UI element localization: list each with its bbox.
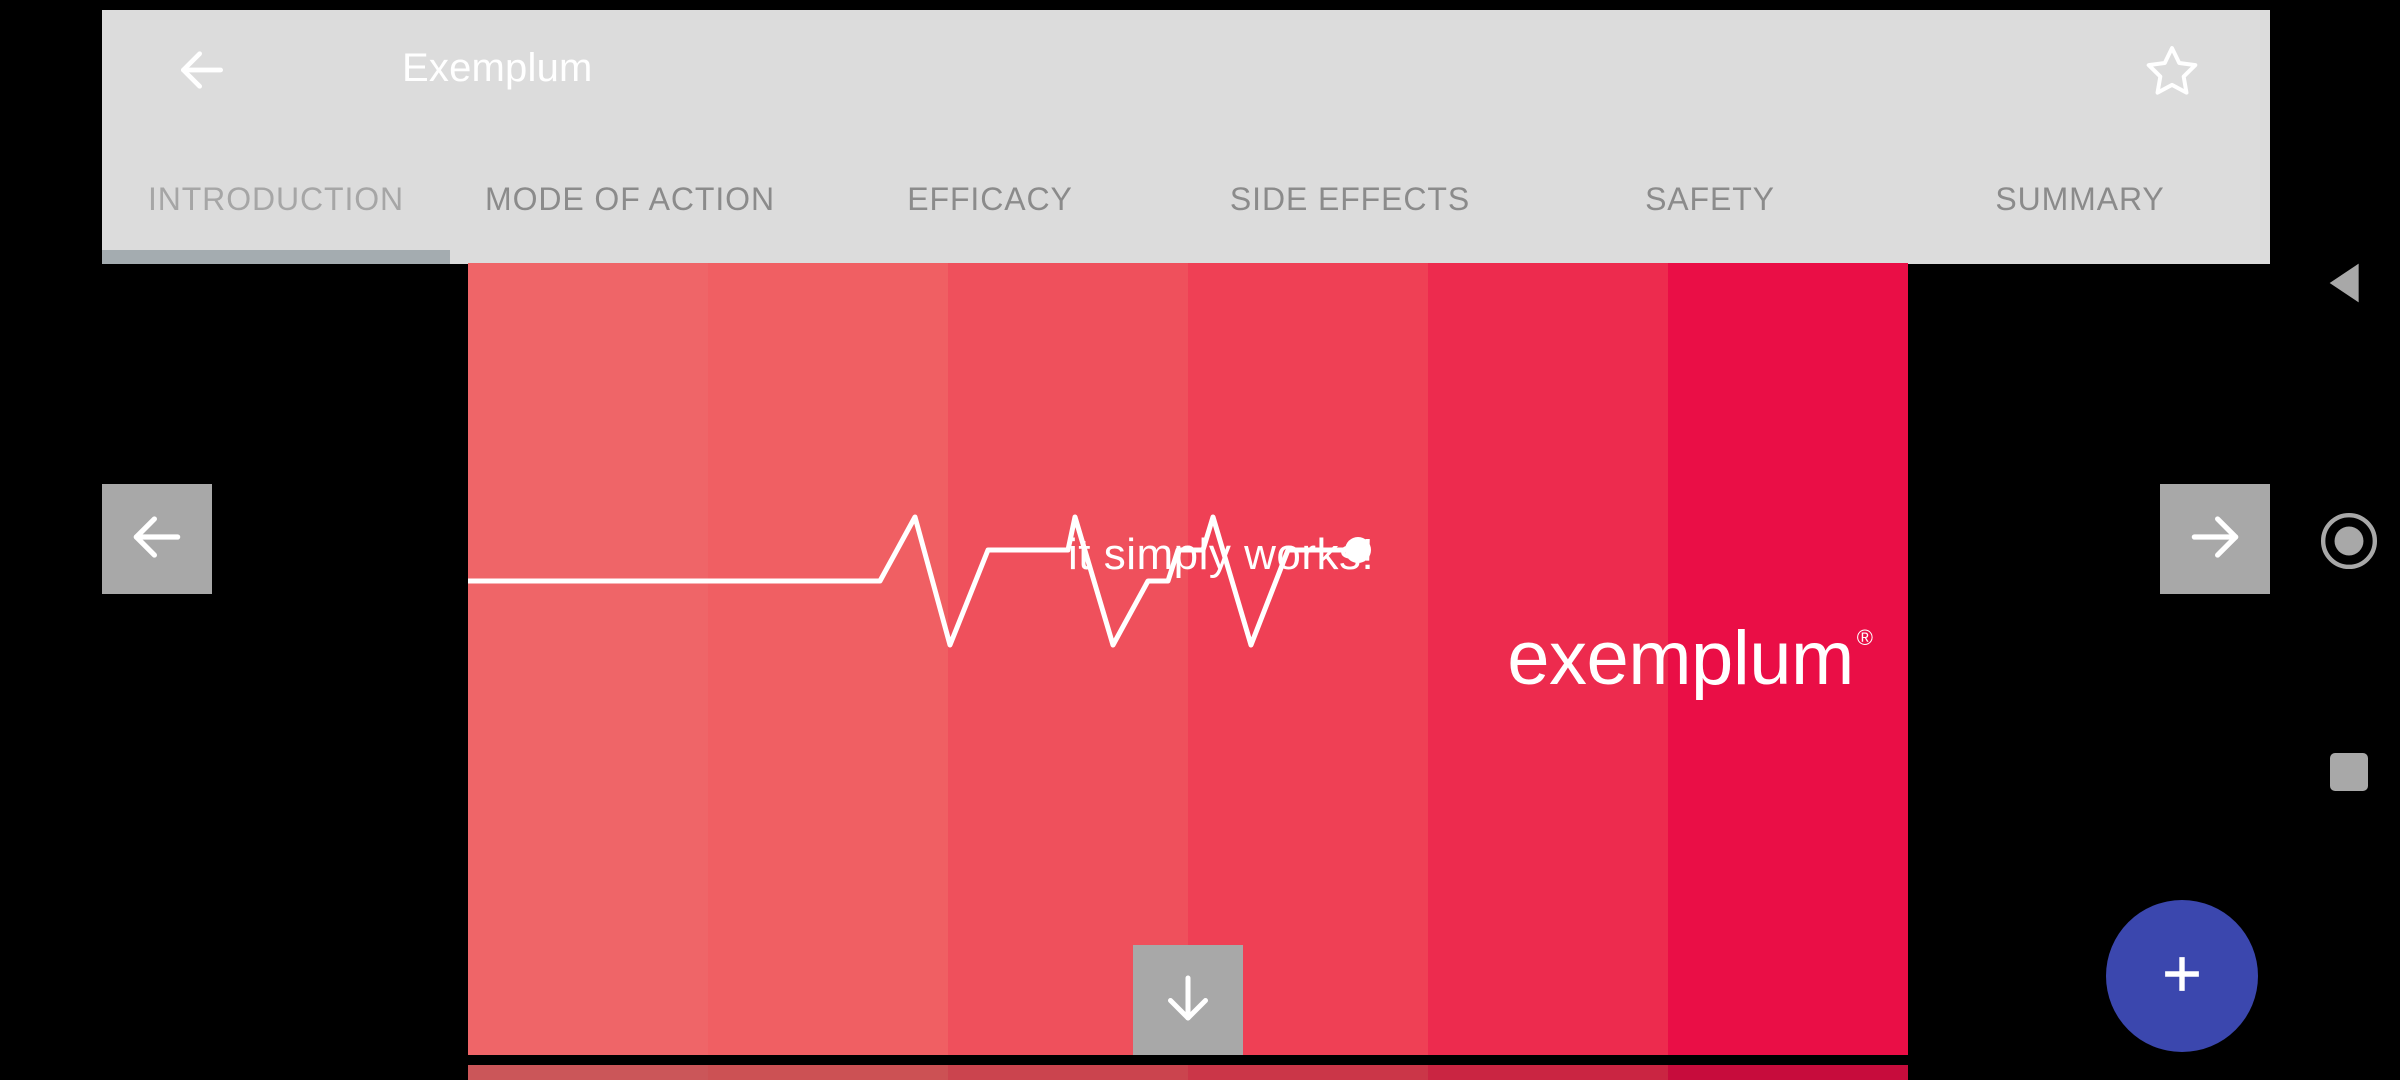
tab-active-indicator [102, 250, 450, 264]
tab-bar: INTRODUCTION MODE OF ACTION EFFICACY SID… [102, 134, 2270, 264]
triangle-back-icon [2320, 254, 2378, 317]
plus-icon [2155, 947, 2209, 1006]
tab-summary[interactable]: SUMMARY [1890, 134, 2270, 264]
scroll-down-button[interactable] [1133, 945, 1243, 1055]
next-slide-button[interactable] [2160, 484, 2270, 594]
registered-trademark-icon: ® [1857, 627, 1873, 649]
app-bar-top-row: Exemplum [102, 10, 2270, 134]
tab-active-indicator [810, 250, 1170, 264]
tab-introduction[interactable]: INTRODUCTION [102, 134, 450, 264]
tab-label: SUMMARY [1995, 181, 2164, 218]
device-screen: Exemplum INTRODUCTION MODE OF ACTION EF [0, 0, 2400, 1080]
arrow-left-icon [126, 506, 188, 573]
tab-label: EFFICACY [907, 181, 1072, 218]
color-band [1188, 1065, 1428, 1080]
exemplum-logo: exemplum ® [1507, 621, 1873, 697]
tab-side-effects[interactable]: SIDE EFFECTS [1170, 134, 1530, 264]
tab-safety[interactable]: SAFETY [1530, 134, 1890, 264]
arrow-right-icon [2184, 506, 2246, 573]
system-back-button[interactable] [2314, 250, 2384, 320]
system-home-button[interactable] [2311, 505, 2387, 581]
color-band [468, 1065, 708, 1080]
tab-efficacy[interactable]: EFFICACY [810, 134, 1170, 264]
color-band [1668, 1065, 1908, 1080]
color-band [708, 1065, 948, 1080]
previous-slide-button[interactable] [102, 484, 212, 594]
arrow-down-icon [1158, 968, 1218, 1033]
tab-mode-of-action[interactable]: MODE OF ACTION [450, 134, 810, 264]
color-band [1428, 1065, 1668, 1080]
system-navigation-bar [2298, 0, 2400, 1080]
page-title: Exemplum [402, 46, 593, 91]
tab-active-indicator [450, 250, 810, 264]
tab-active-indicator [1890, 250, 2270, 264]
logo-wordmark: exemplum [1507, 621, 1854, 697]
slide-tagline: it simply works! [613, 530, 1374, 580]
star-outline-icon [2144, 42, 2200, 103]
add-floating-action-button[interactable] [2106, 900, 2258, 1052]
slide-viewport[interactable]: it simply works! exemplum ® [468, 263, 1908, 1055]
system-recents-button[interactable] [2317, 740, 2381, 804]
back-button[interactable] [162, 32, 242, 112]
tab-label: MODE OF ACTION [485, 181, 775, 218]
tab-label: SAFETY [1645, 181, 1775, 218]
circle-home-icon [2318, 510, 2380, 577]
tab-active-indicator [1530, 250, 1890, 264]
arrow-left-icon [174, 42, 230, 103]
tab-label: SIDE EFFECTS [1230, 181, 1470, 218]
tab-label: INTRODUCTION [148, 181, 404, 218]
favorite-button[interactable] [2130, 30, 2214, 114]
square-recents-icon [2330, 753, 2368, 791]
app-bar: Exemplum INTRODUCTION MODE OF ACTION EF [102, 10, 2270, 264]
color-band [948, 1065, 1188, 1080]
next-slide-peek[interactable] [468, 1065, 1908, 1080]
tab-active-indicator [1170, 250, 1530, 264]
